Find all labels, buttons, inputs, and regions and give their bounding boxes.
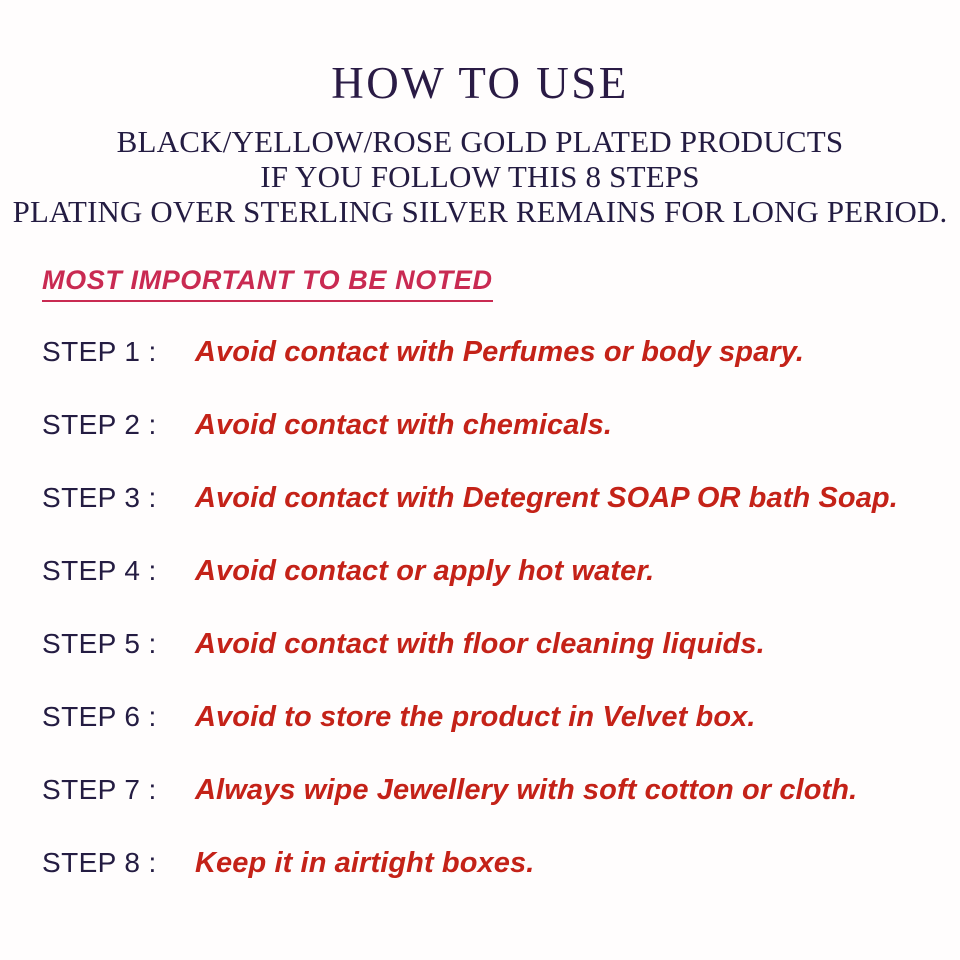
steps-list: STEP 1 : Avoid contact with Perfumes or … [0,336,960,920]
step-text: Avoid contact with Perfumes or body spar… [195,336,960,368]
step-label: STEP 8 : [42,848,195,878]
step-row: STEP 3 : Avoid contact with Detegrent SO… [42,482,960,555]
subtitle-line-3: PLATING OVER STERLING SILVER REMAINS FOR… [2,194,957,229]
step-row: STEP 1 : Avoid contact with Perfumes or … [42,336,960,409]
notice-block: MOST IMPORTANT TO BE NOTED [0,265,960,302]
step-row: STEP 6 : Avoid to store the product in V… [42,701,960,774]
step-text: Avoid contact with floor cleaning liquid… [195,628,960,660]
subtitle-line-1: BLACK/YELLOW/ROSE GOLD PLATED PRODUCTS [0,124,960,159]
notice-heading: MOST IMPORTANT TO BE NOTED [42,265,493,302]
step-label: STEP 2 : [42,410,195,440]
step-row: STEP 5 : Avoid contact with floor cleani… [42,628,960,701]
step-text: Always wipe Jewellery with soft cotton o… [195,774,960,806]
step-text: Keep it in airtight boxes. [195,847,960,879]
step-label: STEP 3 : [42,483,195,513]
header-block: HOW TO USE BLACK/YELLOW/ROSE GOLD PLATED… [0,0,960,229]
step-text: Avoid contact with chemicals. [195,409,960,441]
step-label: STEP 1 : [42,337,195,367]
step-row: STEP 8 : Keep it in airtight boxes. [42,847,960,920]
step-text: Avoid contact or apply hot water. [195,555,960,587]
step-row: STEP 7 : Always wipe Jewellery with soft… [42,774,960,847]
subtitle-line-2: IF YOU FOLLOW THIS 8 STEPS [0,159,960,194]
poster-page: HOW TO USE BLACK/YELLOW/ROSE GOLD PLATED… [0,0,960,960]
step-label: STEP 7 : [42,775,195,805]
step-label: STEP 4 : [42,556,195,586]
step-text: Avoid to store the product in Velvet box… [195,701,960,733]
step-label: STEP 6 : [42,702,195,732]
step-label: STEP 5 : [42,629,195,659]
step-text: Avoid contact with Detegrent SOAP OR bat… [195,482,960,514]
page-title: HOW TO USE [0,58,960,108]
step-row: STEP 2 : Avoid contact with chemicals. [42,409,960,482]
subtitle-block: BLACK/YELLOW/ROSE GOLD PLATED PRODUCTS I… [0,124,960,229]
step-row: STEP 4 : Avoid contact or apply hot wate… [42,555,960,628]
